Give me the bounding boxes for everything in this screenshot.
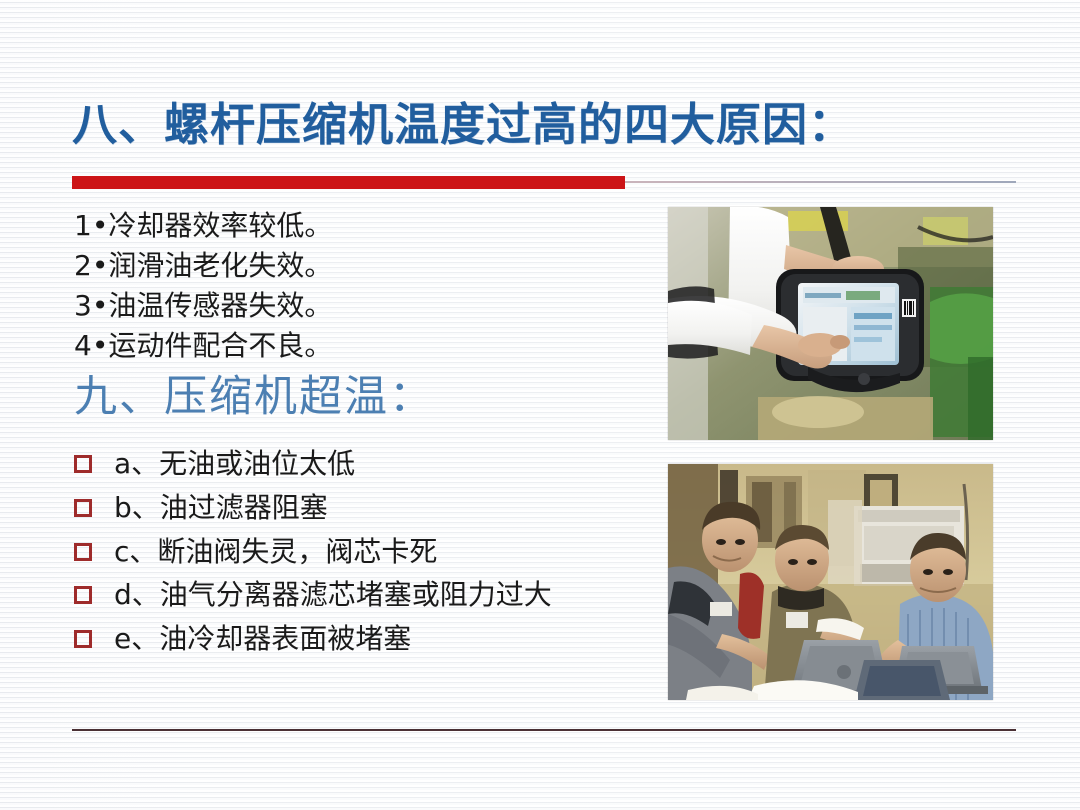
title-underline-rule xyxy=(72,176,1016,189)
causes-list: 1•冷却器效率较低。 2•润滑油老化失效。 3•油温传感器失效。 4•运动件配合… xyxy=(74,206,594,366)
bottom-divider xyxy=(72,729,1016,731)
overheat-checklist: a、无油或油位太低 b、油过滤器阻塞 c、断油阀失灵，阀芯卡死 d、油气分离器滤… xyxy=(74,444,654,663)
checkbox-square-icon xyxy=(74,586,92,604)
list-item: e、油冷却器表面被堵塞 xyxy=(74,619,654,659)
slide-canvas: 八、螺杆压缩机温度过高的四大原因： 1•冷却器效率较低。 2•润滑油老化失效。 … xyxy=(0,0,1080,810)
checkbox-square-icon xyxy=(74,630,92,648)
list-item: 4•运动件配合不良。 xyxy=(74,326,594,366)
page-title: 八、螺杆压缩机温度过高的四大原因： xyxy=(72,100,1022,150)
list-item: a、无油或油位太低 xyxy=(74,444,654,484)
list-item: 3•油温传感器失效。 xyxy=(74,286,594,326)
list-item: b、油过滤器阻塞 xyxy=(74,488,654,528)
list-item-label: d、油气分离器滤芯堵塞或阻力过大 xyxy=(114,575,552,615)
list-item-label: e、油冷却器表面被堵塞 xyxy=(114,619,411,659)
photo-three-men-at-laptops-graphic xyxy=(668,464,993,700)
list-item-label: b、油过滤器阻塞 xyxy=(114,488,328,528)
list-item: 2•润滑油老化失效。 xyxy=(74,246,594,286)
checkbox-square-icon xyxy=(74,499,92,517)
checkbox-square-icon xyxy=(74,543,92,561)
list-item-label: c、断油阀失灵，阀芯卡死 xyxy=(114,532,437,572)
section-heading-overheat: 九、压缩机超温： xyxy=(74,374,434,421)
photo-technician-with-rugged-tablet-graphic xyxy=(668,207,993,440)
photo-three-men-at-laptops xyxy=(668,464,993,700)
list-item: d、油气分离器滤芯堵塞或阻力过大 xyxy=(74,575,654,615)
list-item: 1•冷却器效率较低。 xyxy=(74,206,594,246)
list-item: c、断油阀失灵，阀芯卡死 xyxy=(74,532,654,572)
list-item-label: a、无油或油位太低 xyxy=(114,444,355,484)
photo-technician-with-rugged-tablet xyxy=(668,207,993,440)
title-block: 八、螺杆压缩机温度过高的四大原因： xyxy=(72,100,1022,150)
checkbox-square-icon xyxy=(74,455,92,473)
title-rule-red-bar xyxy=(72,176,625,189)
